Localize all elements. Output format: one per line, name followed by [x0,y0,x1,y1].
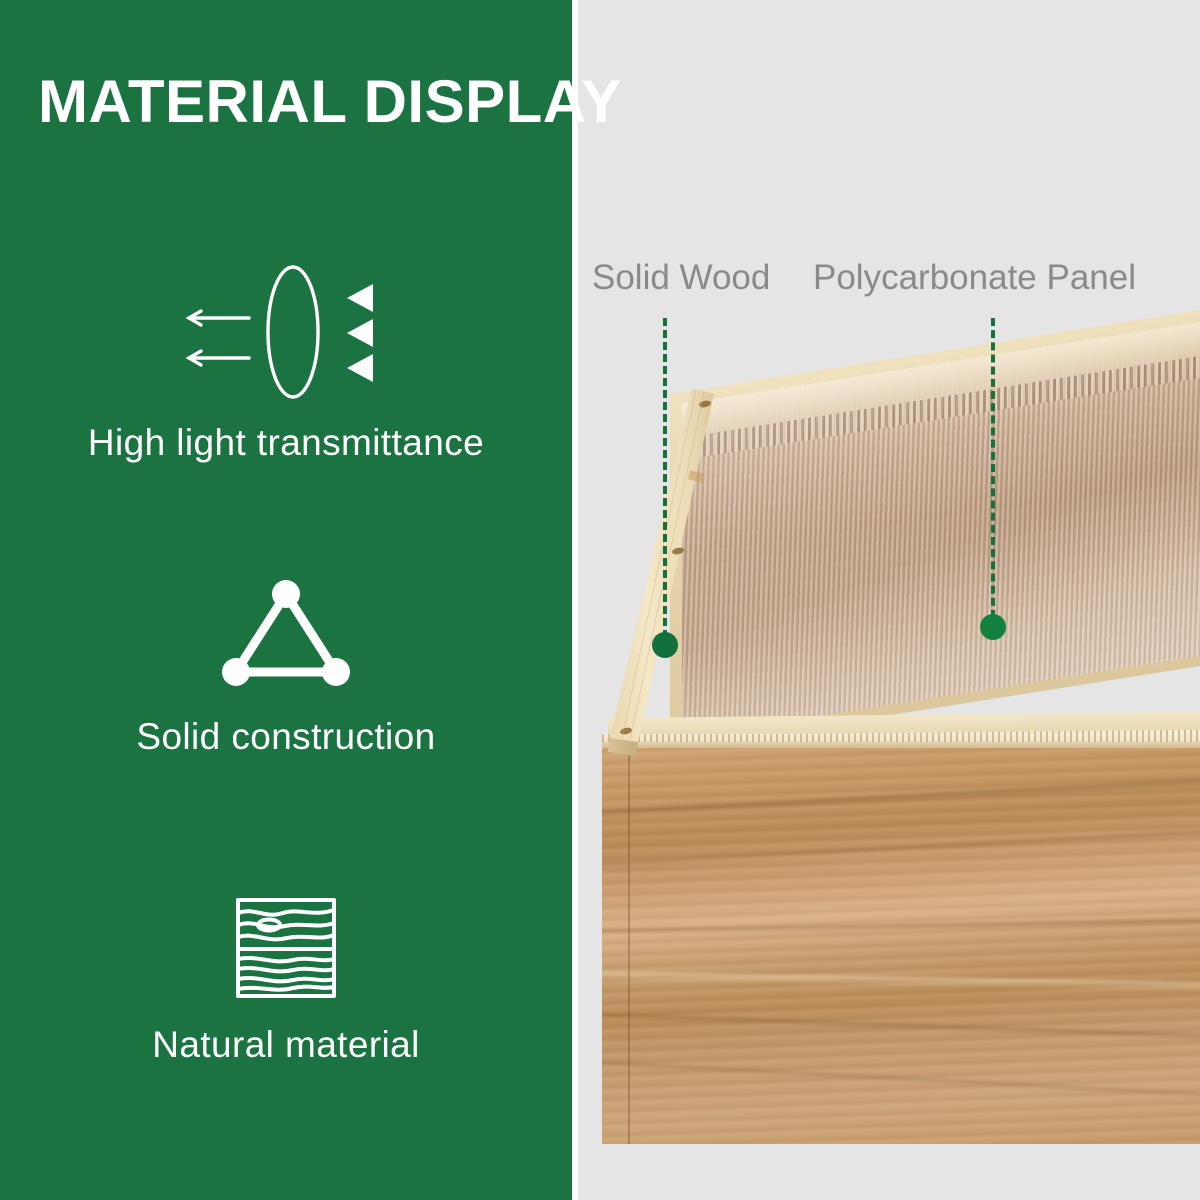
leader-line-solid-wood [663,318,667,638]
feature-item-solid-construction: Solid construction [0,560,572,758]
material-display-infographic: MATERIAL DISPLAY High light transmittanc… [0,0,1200,1200]
lid-left-wood-rail [586,384,716,758]
box-corner-edge [628,748,630,1144]
feature-label: High light transmittance [0,422,572,464]
page-title: MATERIAL DISPLAY [38,72,622,132]
callout-label-solid-wood: Solid Wood [592,258,770,298]
feature-label: Natural material [0,1024,572,1066]
callout-label-polycarbonate-panel: Polycarbonate Panel [813,258,1136,298]
wood-grain-icon [0,878,572,1018]
light-transmittance-icon [0,248,572,416]
box-wood-grain [602,748,1200,1144]
box-front-panel [602,748,1200,1144]
triangle-nodes-icon [0,560,572,710]
feature-item-natural-material: Natural material [0,878,572,1066]
leader-line-polycarbonate-panel [991,318,995,618]
feature-label: Solid construction [0,716,572,758]
leader-dot-solid-wood [652,632,678,658]
feature-item-light-transmittance: High light transmittance [0,248,572,464]
product-photo [578,0,1200,1200]
leader-dot-polycarbonate-panel [980,614,1006,640]
